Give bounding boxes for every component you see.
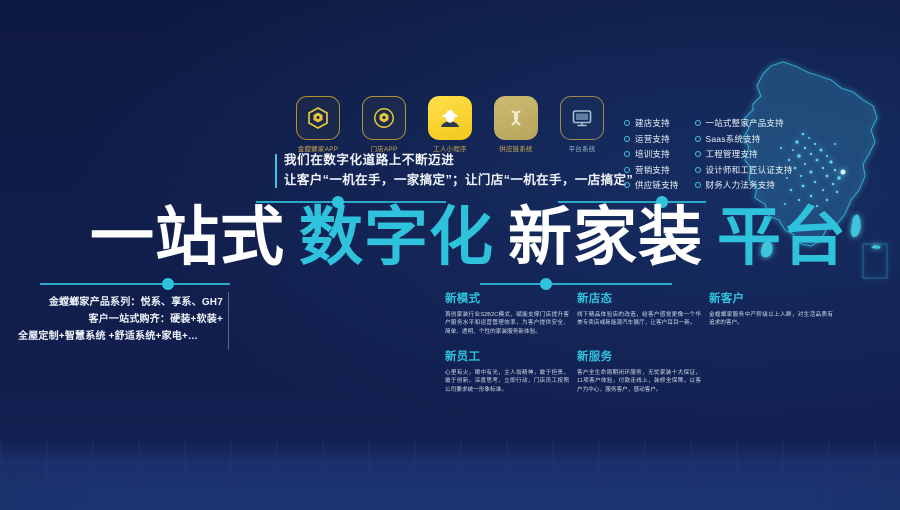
bullet-ring-icon	[624, 151, 630, 157]
bullet-ring-icon	[695, 167, 701, 173]
banner-canvas: 金螳螂家APP 门店APP 工人小程序	[0, 0, 900, 510]
feature-card[interactable]: 新模式 首创家装行业S2B2C模式，赋能支撑门店提升客户服务水平和运营管理效率，…	[445, 294, 569, 336]
feature-card-body: 心里有火，眼中有光，主人翁精神，敢于担责，敢于创新，深度思考，立即行动，门店员工…	[445, 369, 569, 395]
bullet-ring-icon	[624, 182, 630, 188]
product-divider	[228, 292, 229, 350]
headline-deco-bottom-right	[480, 280, 740, 282]
bullet-ring-icon	[695, 120, 701, 126]
feature-card-spacer	[709, 352, 833, 394]
house-logo-icon	[296, 96, 340, 140]
headline-word-2: 新家装	[508, 206, 703, 270]
feature-card-title: 新服务	[577, 352, 701, 364]
app-item-0[interactable]: 金螳螂家APP	[296, 96, 340, 154]
feature-card[interactable]: 新店态 线下精品体验店的改造，给客户感觉更像一个华美专卖店或新能源汽车展厅，让客…	[577, 294, 701, 336]
headline-word-3: 平台	[717, 206, 847, 270]
support-item[interactable]: 营销支持	[624, 166, 679, 175]
bullet-ring-icon	[695, 182, 701, 188]
support-item[interactable]: 工程管理支持	[695, 150, 793, 159]
feature-card[interactable]: 新员工 心里有火，眼中有光，主人翁精神，敢于担责，敢于创新，深度思考，立即行动，…	[445, 352, 569, 394]
slogan-line-2: 让客户“一机在手，一家搞定”；让门店“一机在手，一店搞定”	[284, 171, 633, 190]
headline-word-1: 数字化	[299, 206, 494, 270]
feature-card-body: 客户全生命周期闭环服务，无忧家装十大保证，11项客户体验，付款走线上，装修全保障…	[577, 369, 701, 395]
support-column-left: 建店支持 运营支持 培训支持 营销支持 供应链支持	[624, 119, 679, 190]
app-icon-row: 金螳螂家APP 门店APP 工人小程序	[296, 96, 604, 154]
chain-link-icon	[494, 96, 538, 140]
monitor-icon	[560, 96, 604, 140]
support-item[interactable]: 建店支持	[624, 119, 679, 128]
support-item[interactable]: Saas系统支持	[695, 135, 793, 144]
slogan-line-1: 我们在数字化道路上不断迈进	[284, 152, 633, 169]
worker-helmet-icon	[428, 96, 472, 140]
app-item-3[interactable]: 供应链系统	[494, 96, 538, 154]
product-line-1: 金螳螂家产品系列：悦系、享系、GH7	[18, 294, 223, 311]
support-column-right: 一站式整家产品支持 Saas系统支持 工程管理支持 设计师和工匠认证支持 财务人…	[695, 119, 793, 190]
bullet-ring-icon	[695, 136, 701, 142]
support-item[interactable]: 一站式整家产品支持	[695, 119, 793, 128]
store-logo-icon	[362, 96, 406, 140]
feature-card-row-2: 新员工 心里有火，眼中有光，主人翁精神，敢于担责，敢于创新，深度思考，立即行动，…	[445, 352, 865, 394]
bullet-ring-icon	[624, 167, 630, 173]
slogan-block: 我们在数字化道路上不断迈进 让客户“一机在手，一家搞定”；让门店“一机在手，一店…	[284, 152, 633, 190]
feature-card-row-1: 新模式 首创家装行业S2B2C模式，赋能支撑门店提升客户服务水平和运营管理效率，…	[445, 294, 865, 336]
support-item[interactable]: 运营支持	[624, 135, 679, 144]
feature-card-title: 新员工	[445, 352, 569, 364]
bullet-ring-icon	[624, 136, 630, 142]
bullet-ring-icon	[624, 120, 630, 126]
page-title: 一站式 数字化 新家装 平台	[90, 206, 847, 270]
support-item[interactable]: 培训支持	[624, 150, 679, 159]
app-item-1[interactable]: 门店APP	[362, 96, 406, 154]
slogan-accent-bar	[275, 154, 277, 188]
feature-card-title: 新店态	[577, 294, 701, 306]
product-line-3: 全屋定制+智慧系统 +舒适系统+家电+…	[18, 328, 223, 345]
headline-deco-top	[256, 198, 586, 200]
feature-card-body: 首创家装行业S2B2C模式，赋能支撑门店提升客户服务水平和运营管理效率，为客户提…	[445, 311, 569, 337]
feature-card-body: 线下精品体验店的改造，给客户感觉更像一个华美专卖店或新能源汽车展厅，让客户耳目一…	[577, 311, 701, 328]
product-line-2: 客户一站式购齐：硬装+软装+	[18, 311, 223, 328]
feature-card-body: 金螳螂家服务中产阶级以上人群，对生活品质有追求的客户。	[709, 311, 833, 328]
support-item[interactable]: 财务人力法务支持	[695, 181, 793, 190]
bullet-ring-icon	[695, 151, 701, 157]
feature-card-title: 新客户	[709, 294, 833, 306]
feature-card[interactable]: 新服务 客户全生命周期闭环服务，无忧家装十大保证，11项客户体验，付款走线上，装…	[577, 352, 701, 394]
headline-deco-bottom-left	[40, 280, 290, 282]
headline-deco-top-right	[558, 198, 748, 200]
support-item[interactable]: 供应链支持	[624, 181, 679, 190]
feature-card-title: 新模式	[445, 294, 569, 306]
product-series-block: 金螳螂家产品系列：悦系、享系、GH7 客户一站式购齐：硬装+软装+ 全屋定制+智…	[18, 294, 223, 345]
support-lists: 建店支持 运营支持 培训支持 营销支持 供应链支持 一站式整家产品支持	[624, 119, 793, 190]
support-item[interactable]: 设计师和工匠认证支持	[695, 166, 793, 175]
headline-word-0: 一站式	[90, 206, 285, 270]
app-item-4[interactable]: 平台系统	[560, 96, 604, 154]
feature-cards: 新模式 首创家装行业S2B2C模式，赋能支撑门店提升客户服务水平和运营管理效率，…	[445, 294, 865, 395]
background-stripes	[0, 440, 900, 510]
app-item-2[interactable]: 工人小程序	[428, 96, 472, 154]
feature-card[interactable]: 新客户 金螳螂家服务中产阶级以上人群，对生活品质有追求的客户。	[709, 294, 833, 336]
